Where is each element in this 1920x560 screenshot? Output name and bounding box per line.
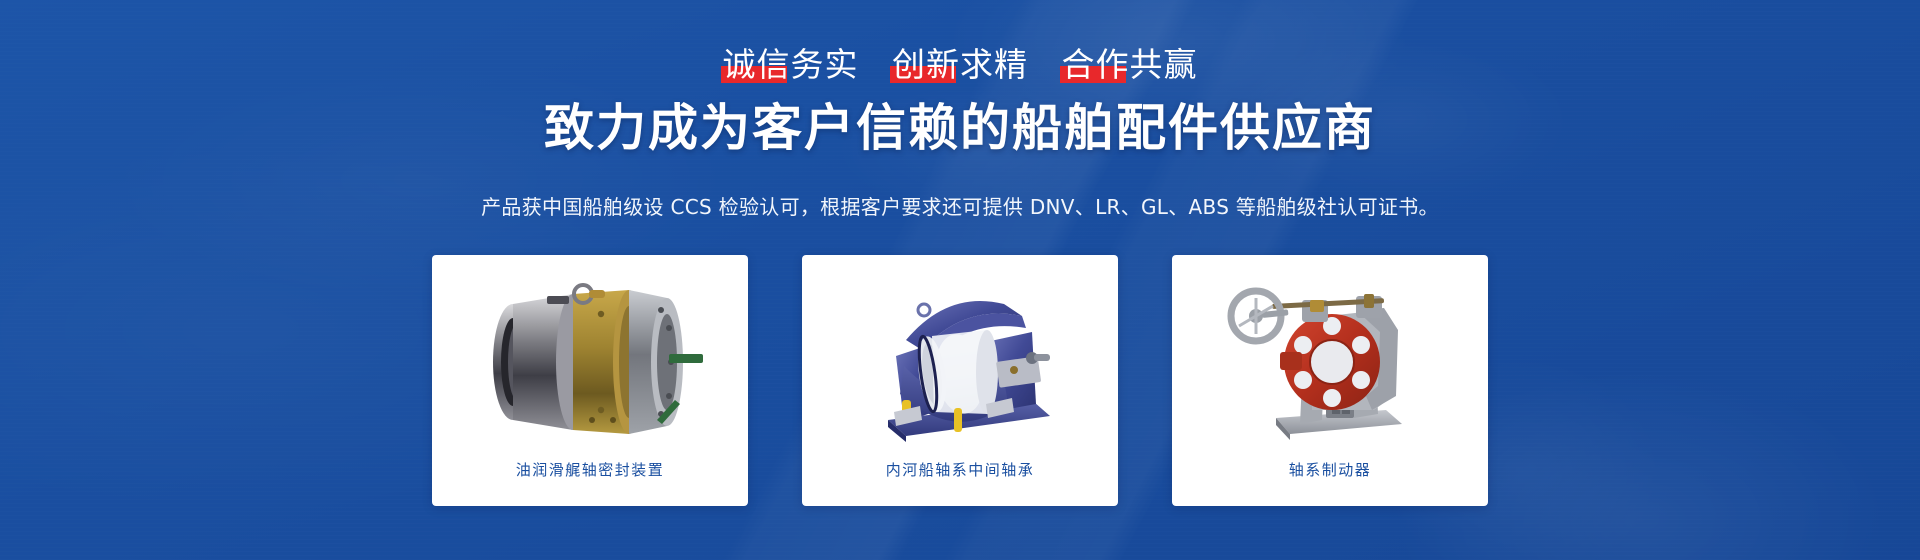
- page-title: 致力成为客户信赖的船舶配件供应商: [0, 98, 1920, 158]
- product-card-label: 轴系制动器: [1289, 459, 1372, 480]
- stern-shaft-seal-photo: [451, 267, 729, 453]
- tagline-phrase-3: 合作共赢: [1062, 48, 1198, 81]
- intermediate-bearing-illustration: [836, 270, 1084, 450]
- banner-subtitle: 产品获中国船舶级设 CCS 检验认可，根据客户要求还可提供 DNV、LR、GL、…: [0, 197, 1920, 217]
- tagline-phrase-2-label: 创新求精: [892, 45, 1028, 84]
- shaft-brake-illustration: [1206, 270, 1454, 450]
- product-card[interactable]: 油润滑艉轴密封装置: [432, 255, 748, 506]
- shaft-brake-photo: [1191, 267, 1469, 453]
- product-card-row: 油润滑艉轴密封装置: [0, 255, 1920, 506]
- stern-shaft-seal-illustration: [461, 270, 719, 450]
- company-tagline: 诚信务实 创新求精 合作共赢: [0, 48, 1920, 81]
- product-card-label: 油润滑艉轴密封装置: [516, 459, 665, 480]
- tagline-phrase-3-label: 合作共赢: [1062, 45, 1198, 84]
- intermediate-bearing-photo: [821, 267, 1099, 453]
- tagline-phrase-1-label: 诚信务实: [723, 45, 859, 84]
- banner-content: 诚信务实 创新求精 合作共赢 致力成为客户信赖的船舶配件供应商 产品获中国船舶级…: [0, 0, 1920, 560]
- product-card[interactable]: 内河船轴系中间轴承: [802, 255, 1118, 506]
- product-card[interactable]: 轴系制动器: [1172, 255, 1488, 506]
- tagline-phrase-2: 创新求精: [892, 48, 1028, 81]
- product-card-label: 内河船轴系中间轴承: [886, 459, 1035, 480]
- hero-banner: 诚信务实 创新求精 合作共赢 致力成为客户信赖的船舶配件供应商 产品获中国船舶级…: [0, 0, 1920, 560]
- tagline-phrase-1: 诚信务实: [723, 48, 859, 81]
